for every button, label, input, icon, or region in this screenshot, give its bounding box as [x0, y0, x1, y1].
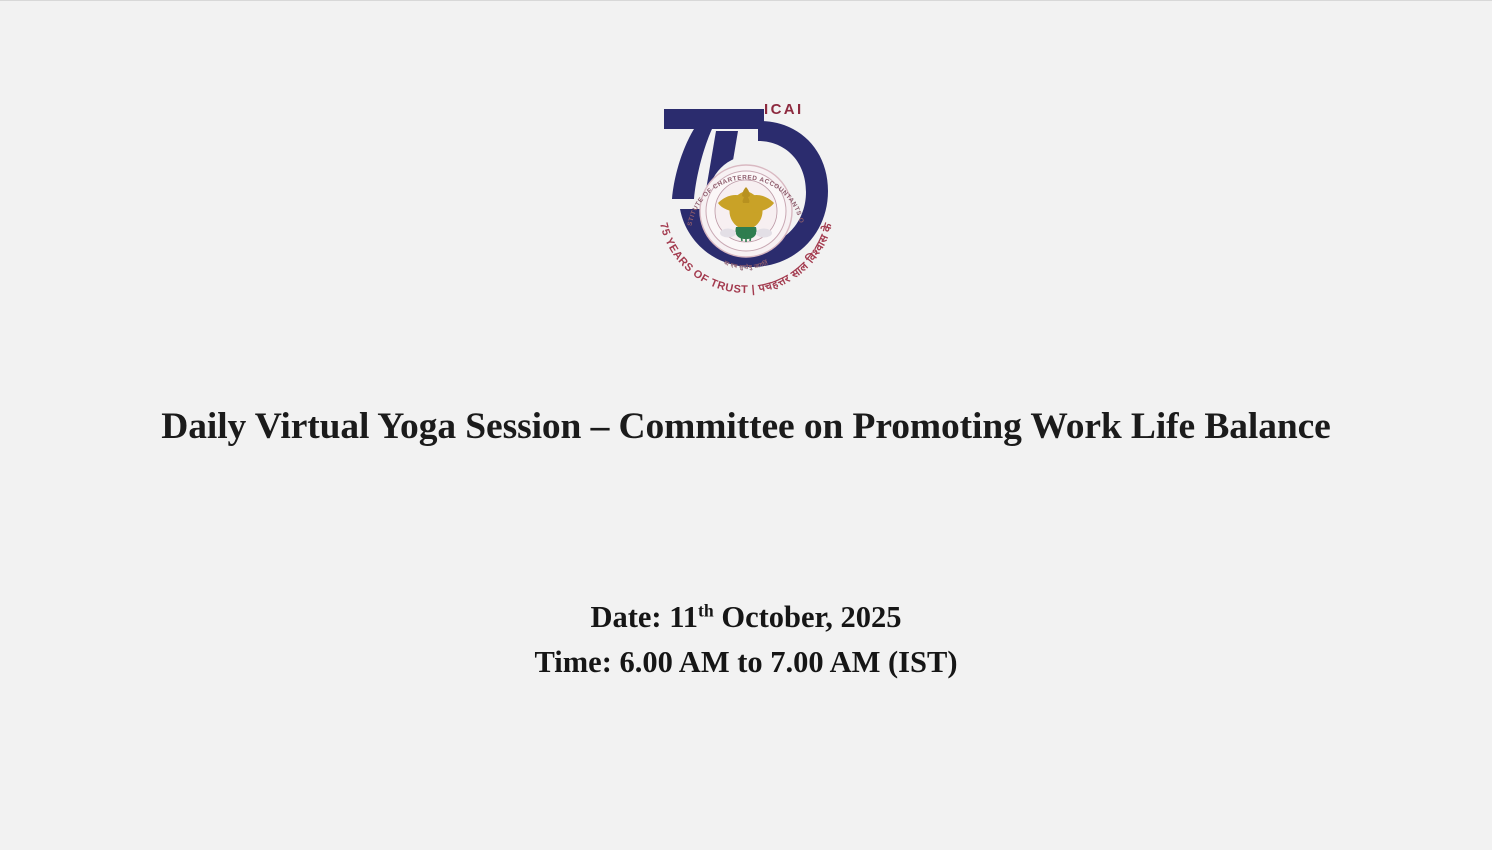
logo-abbreviation-text: ICAI — [764, 101, 804, 118]
icai-75-years-logo: ICAI THE INSTITUTE OF CHARTERED ACCOUNTA… — [642, 87, 850, 299]
presentation-slide: ICAI THE INSTITUTE OF CHARTERED ACCOUNTA… — [0, 0, 1492, 850]
slide-title: Daily Virtual Yoga Session – Committee o… — [0, 405, 1492, 449]
logo-container: ICAI THE INSTITUTE OF CHARTERED ACCOUNTA… — [0, 87, 1492, 299]
date-remainder: October, 2025 — [714, 600, 902, 634]
date-ordinal-suffix: th — [698, 600, 714, 620]
session-time-line: Time: 6.00 AM to 7.00 AM (IST) — [0, 640, 1492, 685]
date-label: Date: — [590, 600, 669, 634]
session-details: Date: 11th October, 2025 Time: 6.00 AM t… — [0, 595, 1492, 685]
session-date-line: Date: 11th October, 2025 — [0, 595, 1492, 640]
date-number: 11 — [669, 600, 698, 634]
